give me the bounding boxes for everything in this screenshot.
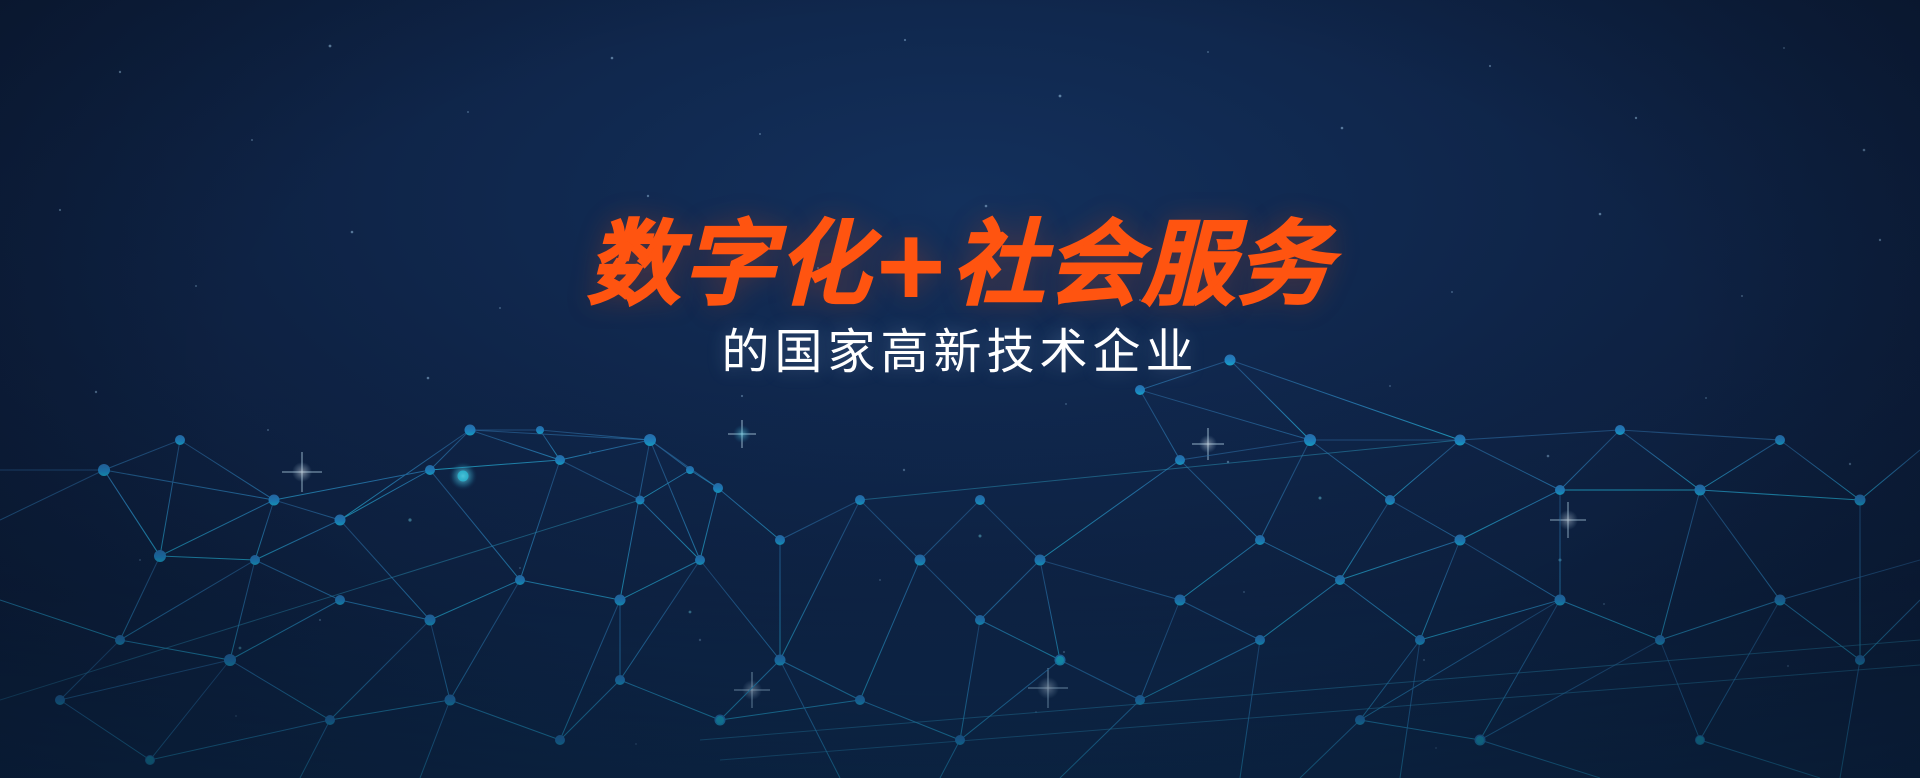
polygon-network-mesh	[0, 0, 1920, 778]
hero-banner: 数字化+社会服务 的国家高新技术企业	[0, 0, 1920, 778]
